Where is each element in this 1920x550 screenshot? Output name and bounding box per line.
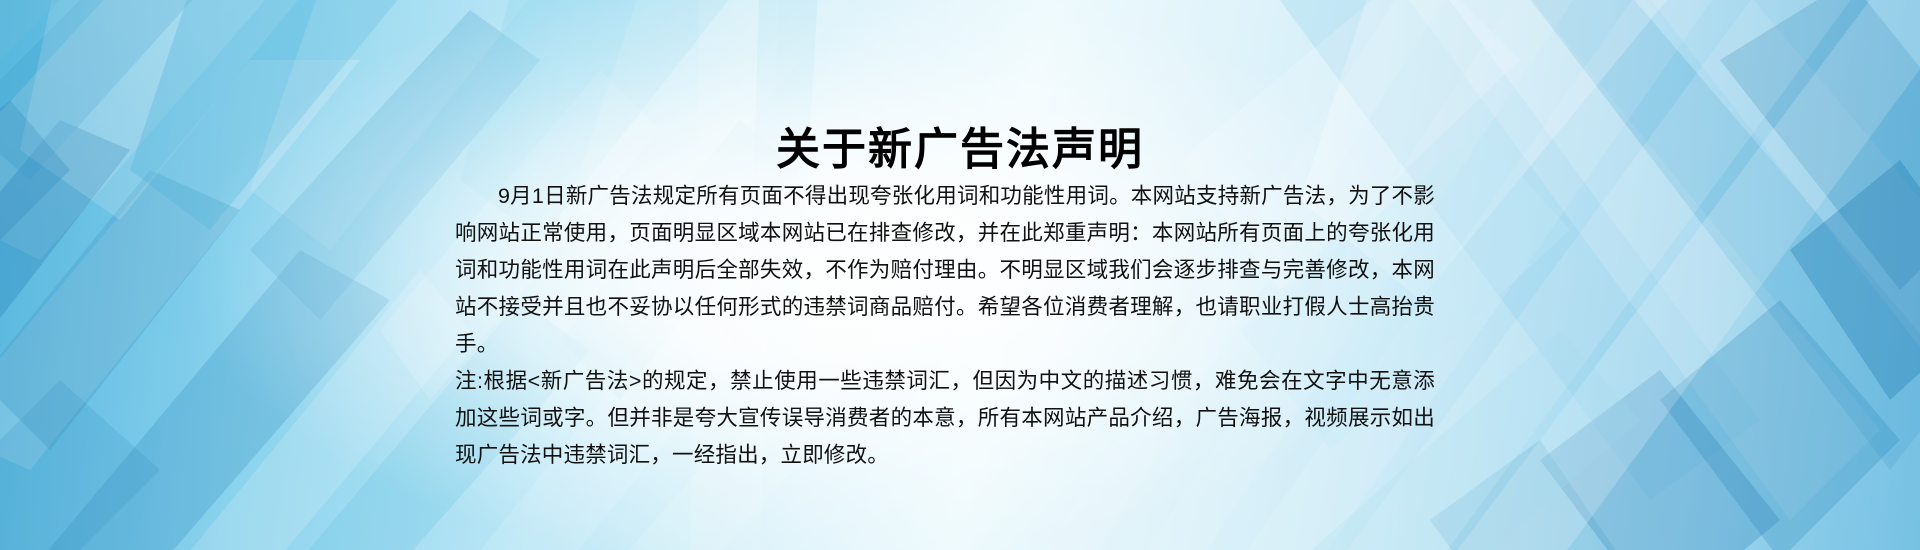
page-title: 关于新广告法声明 (0, 124, 1920, 177)
statement-content: 关于新广告法声明 9月1日新广告法规定所有页面不得出现夸张化用词和功能性用词。本… (0, 0, 1920, 550)
statement-paragraph-note: 注:根据<新广告法>的规定，禁止使用一些违禁词汇，但因为中文的描述习惯，难免会在… (455, 363, 1435, 474)
statement-paragraph-main: 9月1日新广告法规定所有页面不得出现夸张化用词和功能性用词。本网站支持新广告法，… (455, 178, 1435, 363)
advertising-law-statement-banner: 关于新广告法声明 9月1日新广告法规定所有页面不得出现夸张化用词和功能性用词。本… (0, 0, 1920, 550)
statement-body: 9月1日新广告法规定所有页面不得出现夸张化用词和功能性用词。本网站支持新广告法，… (455, 178, 1435, 474)
